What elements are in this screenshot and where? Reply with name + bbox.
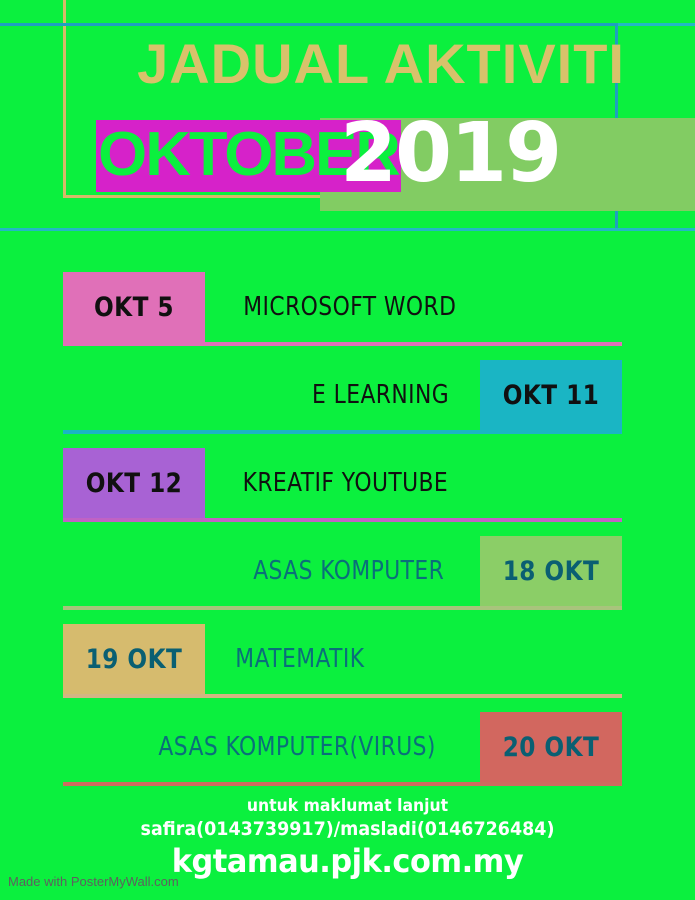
schedule-row-content: OKT 5MICROSOFT WORD: [0, 272, 695, 342]
row-divider: [63, 342, 622, 346]
cyan-rule-bottom: [0, 228, 695, 231]
schedule-row-content: ASAS KOMPUTER18 OKT: [0, 536, 695, 606]
row-divider: [63, 606, 622, 610]
row-gutter-right: [622, 272, 695, 342]
schedule-row: OKT 5MICROSOFT WORD: [0, 272, 695, 360]
activity-label: MATEMATIK: [220, 644, 379, 674]
activity-cell: KREATIF YOUTUBE: [205, 448, 622, 518]
schedule-row-content: 19 OKTMATEMATIK: [0, 624, 695, 694]
date-badge-label: OKT 5: [73, 292, 195, 323]
activity-cell: ASAS KOMPUTER: [63, 536, 480, 606]
activity-label: E LEARNING: [297, 380, 464, 410]
footer-line-1: untuk maklumat lanjut: [28, 796, 667, 817]
poster-canvas: JADUAL AKTIVITI OKTOBER 2019 OKT 5MICROS…: [0, 0, 695, 900]
footer-line-2: safira(0143739917)/masladi(0146726484): [28, 817, 667, 841]
schedule-row-content: OKT 12KREATIF YOUTUBE: [0, 448, 695, 518]
schedule-row: ASAS KOMPUTER(VIRUS)20 OKT: [0, 712, 695, 800]
activity-label: MICROSOFT WORD: [228, 292, 471, 322]
row-gutter-right: [622, 360, 695, 430]
row-gutter-left: [0, 272, 63, 342]
row-divider: [63, 694, 622, 698]
schedule-row: ASAS KOMPUTER18 OKT: [0, 536, 695, 624]
date-badge: OKT 12: [63, 448, 205, 518]
row-divider: [63, 518, 622, 522]
schedule-list: OKT 5MICROSOFT WORDE LEARNINGOKT 11OKT 1…: [0, 272, 695, 800]
row-gutter-left: [0, 448, 63, 518]
schedule-row: 19 OKTMATEMATIK: [0, 624, 695, 712]
row-gutter-left: [0, 536, 63, 606]
activity-label: ASAS KOMPUTER(VIRUS): [143, 732, 451, 762]
row-gutter-right: [622, 712, 695, 782]
footer-contact: untuk maklumat lanjut safira(0143739917)…: [0, 796, 695, 881]
schedule-row: E LEARNINGOKT 11: [0, 360, 695, 448]
row-gutter-right: [622, 624, 695, 694]
page-title: JADUAL AKTIVITI: [0, 32, 625, 96]
date-badge-label: OKT 11: [490, 380, 612, 411]
activity-label: KREATIF YOUTUBE: [227, 468, 463, 498]
date-badge: 20 OKT: [480, 712, 622, 782]
row-gutter-left: [0, 360, 63, 430]
activity-cell: E LEARNING: [63, 360, 480, 430]
date-badge: OKT 11: [480, 360, 622, 430]
date-badge-label: OKT 12: [73, 468, 195, 499]
date-badge: 19 OKT: [63, 624, 205, 694]
date-badge-label: 19 OKT: [73, 644, 195, 675]
row-gutter-left: [0, 624, 63, 694]
year-label: 2019: [340, 108, 560, 200]
date-badge: OKT 5: [63, 272, 205, 342]
schedule-row-content: ASAS KOMPUTER(VIRUS)20 OKT: [0, 712, 695, 782]
postermywall-watermark: Made with PosterMyWall.com: [8, 874, 179, 890]
activity-cell: ASAS KOMPUTER(VIRUS): [63, 712, 480, 782]
activity-label: ASAS KOMPUTER: [238, 556, 459, 586]
row-divider: [63, 430, 622, 434]
date-badge-label: 18 OKT: [490, 556, 612, 587]
date-badge: 18 OKT: [480, 536, 622, 606]
row-gutter-left: [0, 712, 63, 782]
activity-cell: MATEMATIK: [205, 624, 622, 694]
schedule-row-content: E LEARNINGOKT 11: [0, 360, 695, 430]
activity-cell: MICROSOFT WORD: [205, 272, 622, 342]
row-gutter-right: [622, 448, 695, 518]
row-gutter-right: [622, 536, 695, 606]
date-badge-label: 20 OKT: [490, 732, 612, 763]
row-divider: [63, 782, 622, 786]
schedule-row: OKT 12KREATIF YOUTUBE: [0, 448, 695, 536]
